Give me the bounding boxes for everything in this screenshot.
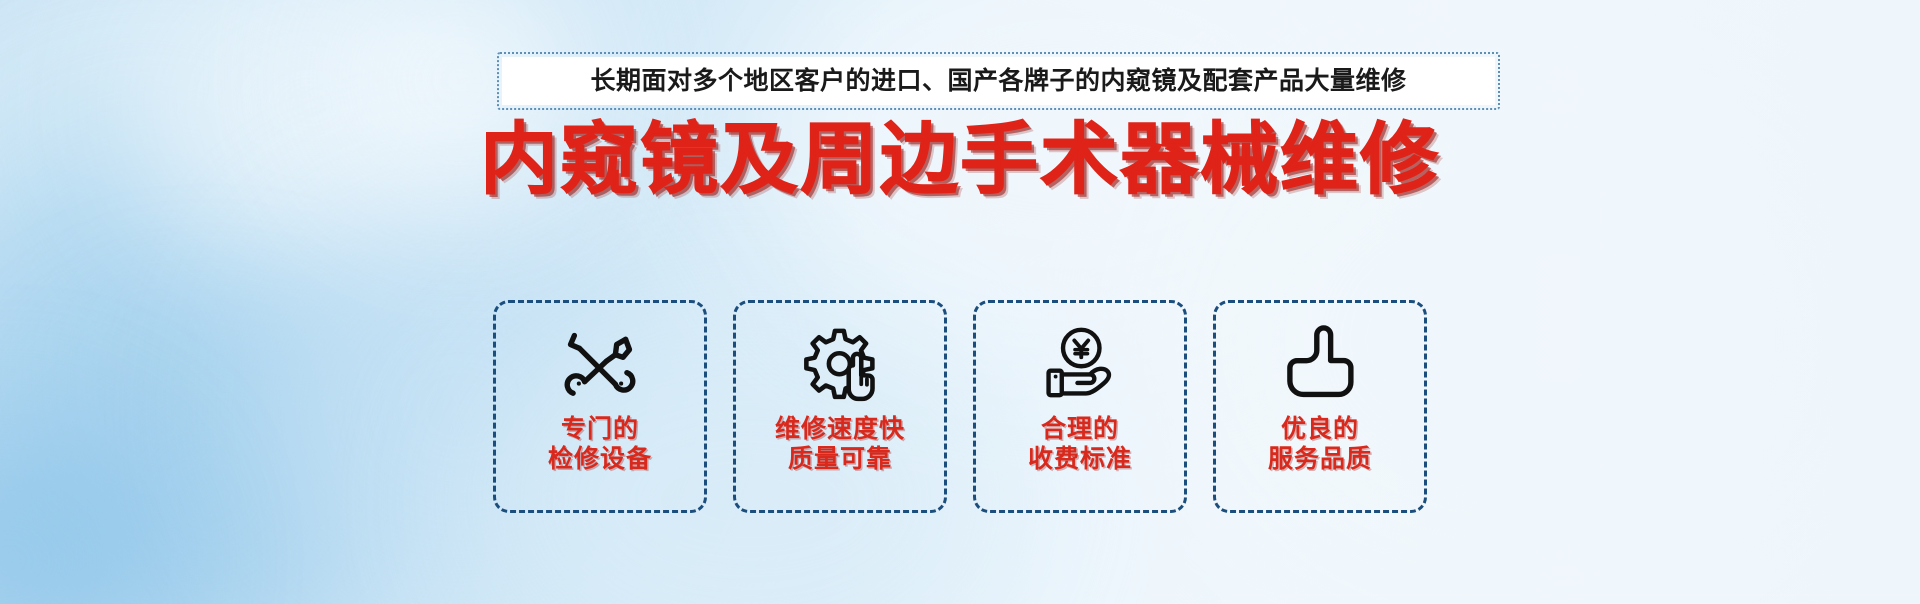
feature-card-label: 优良的 服务品质 [1268,415,1372,474]
feature-label-line-1: 维修速度快 [775,415,905,445]
screwdriver-wrench-icon [559,321,641,409]
feature-label-line-2: 质量可靠 [775,445,905,475]
feature-card-label: 合理的 收费标准 [1028,415,1132,474]
promo-banner: 长期面对多个地区客户的进口、国产各牌子的内窥镜及配套产品大量维修 内窥镜及周边手… [0,0,1920,604]
feature-card-fair-pricing[interactable]: 合理的 收费标准 [973,300,1187,513]
thumbs-up-icon [1280,321,1360,409]
feature-card-fast-reliable[interactable]: 维修速度快 质量可靠 [733,300,947,513]
subtitle-text: 长期面对多个地区客户的进口、国产各牌子的内窥镜及配套产品大量维修 [590,69,1406,94]
subtitle-box-inner: 长期面对多个地区客户的进口、国产各牌子的内窥镜及配套产品大量维修 [502,57,1495,105]
subtitle-box: 长期面对多个地区客户的进口、国产各牌子的内窥镜及配套产品大量维修 [497,52,1500,110]
yen-coin-in-hand-icon [1036,321,1124,409]
banner-content: 长期面对多个地区客户的进口、国产各牌子的内窥镜及配套产品大量维修 内窥镜及周边手… [0,0,1920,604]
feature-label-line-1: 专门的 [548,415,652,445]
feature-card-service-quality[interactable]: 优良的 服务品质 [1213,300,1427,513]
feature-label-line-1: 合理的 [1028,415,1132,445]
feature-label-line-2: 服务品质 [1268,445,1372,475]
feature-label-line-1: 优良的 [1268,415,1372,445]
feature-card-row: 专门的 检修设备 [0,300,1920,513]
gear-click-icon [797,321,883,409]
feature-card-label: 维修速度快 质量可靠 [775,415,905,474]
feature-card-label: 专门的 检修设备 [548,415,652,474]
page-title: 内窥镜及周边手术器械维修 [0,120,1920,198]
feature-label-line-2: 收费标准 [1028,445,1132,475]
feature-label-line-2: 检修设备 [548,445,652,475]
feature-card-repair-equipment[interactable]: 专门的 检修设备 [493,300,707,513]
